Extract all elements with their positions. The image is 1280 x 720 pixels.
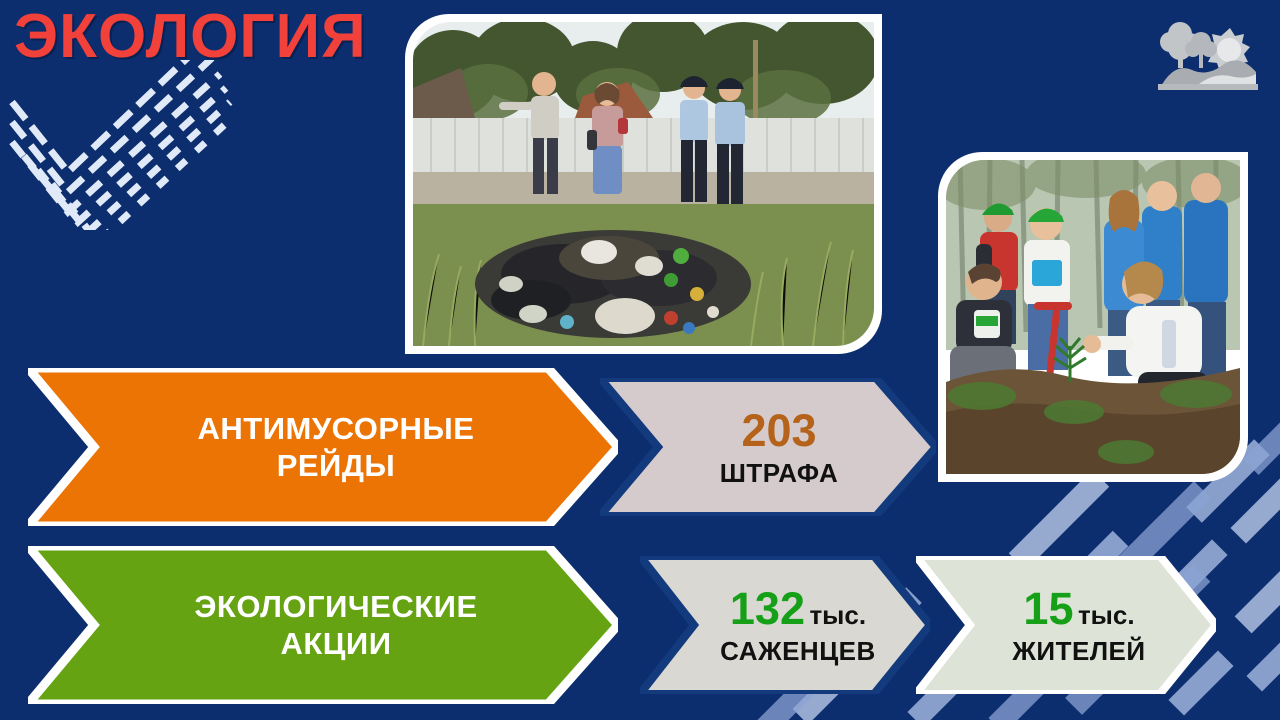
stat-residents-number: 15 <box>1023 583 1073 634</box>
banner-antilitter-raids[interactable]: АНТИМУСОРНЫЕ РЕЙДЫ <box>28 368 618 526</box>
stat-fines-text: 203 ШТРАФА <box>698 406 839 488</box>
banner-antilitter-raids-label: АНТИМУСОРНЫЕ РЕЙДЫ <box>172 410 475 484</box>
stat-seedlings[interactable]: 132 тыс. САЖЕНЦЕВ <box>640 556 930 694</box>
national-projects-check-logo <box>8 60 238 230</box>
banner-label-line1: АНТИМУСОРНЫЕ <box>198 411 475 446</box>
nature-trees-sun-icon <box>1154 14 1262 92</box>
banner-eco-actions[interactable]: ЭКОЛОГИЧЕСКИЕ АКЦИИ <box>28 546 618 704</box>
banner-eco-actions-label: ЭКОЛОГИЧЕСКИЕ АКЦИИ <box>168 588 477 662</box>
banner-label-line1: ЭКОЛОГИЧЕСКИЕ <box>194 589 477 624</box>
banner-label-line2: АКЦИИ <box>280 626 391 661</box>
page-title: ЭКОЛОГИЯ <box>14 6 367 68</box>
stat-residents-label: ЖИТЕЛЕЙ <box>1012 637 1145 666</box>
stat-fines-label: ШТРАФА <box>720 459 839 488</box>
stat-fines[interactable]: 203 ШТРАФА <box>600 378 936 516</box>
stat-seedlings-unit: тыс. <box>809 600 866 630</box>
photo-raid-inspection <box>405 14 882 354</box>
banner-label-line2: РЕЙДЫ <box>277 448 396 483</box>
stat-seedlings-text: 132 тыс. САЖЕНЦЕВ <box>694 584 876 666</box>
stat-residents[interactable]: 15 тыс. ЖИТЕЛЕЙ <box>916 556 1216 694</box>
stat-fines-number: 203 <box>741 405 816 456</box>
stat-residents-unit: тыс. <box>1078 600 1135 630</box>
stat-seedlings-label: САЖЕНЦЕВ <box>720 637 876 666</box>
photo-tree-planting <box>938 152 1248 482</box>
infographic-slide: ЭКОЛОГИЯ <box>0 0 1280 720</box>
stat-residents-text: 15 тыс. ЖИТЕЛЕЙ <box>986 584 1145 666</box>
stat-seedlings-number: 132 <box>730 583 805 634</box>
